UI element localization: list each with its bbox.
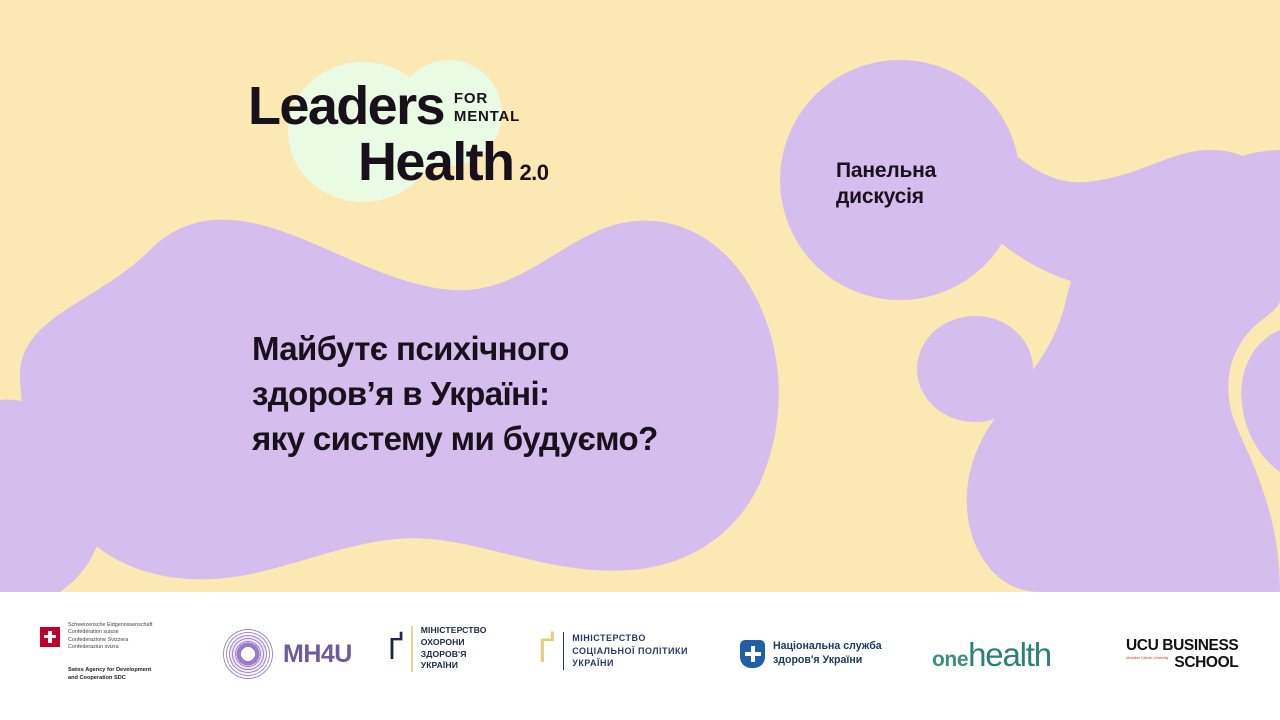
- background-blob-art: [0, 0, 1280, 592]
- ukraine-trident-icon: Ґ: [388, 632, 403, 666]
- nszu-line-1: Національна служба: [773, 640, 882, 654]
- logo-ministry-of-health: Ґ МІНІСТЕРСТВО ОХОРОНИ ЗДОРОВ'Я УКРАЇНИ: [388, 625, 487, 672]
- headline-line-2: здоров’я в Україні:: [252, 371, 772, 416]
- mh4u-wordmark: MH4U: [283, 640, 352, 669]
- moz-line-3: ЗДОРОВ'Я: [421, 649, 487, 661]
- swiss-cross-flag-icon: [40, 627, 60, 647]
- swiss-name-rm: Confederaziun svizra: [68, 644, 153, 651]
- moz-line-4: УКРАЇНИ: [421, 660, 487, 672]
- panel-discussion-label: Панельна дискусія: [836, 158, 1046, 210]
- logo-divider: [563, 632, 565, 670]
- onehealth-word-one: one: [932, 648, 968, 672]
- logo-word-health: Health: [358, 134, 513, 190]
- headline-line-3: яку систему ми будуємо?: [252, 416, 772, 461]
- logo-subtitle: FOR MENTAL: [454, 90, 520, 126]
- nszu-line-2: здоров'я України: [773, 654, 882, 668]
- logo-national-health-service: Національна служба здоров'я України: [740, 640, 882, 668]
- moz-line-2: ОХОРОНИ: [421, 637, 487, 649]
- swiss-tagline-line-1: Swiss Agency for Development: [68, 667, 151, 675]
- panel-label-line-2: дискусія: [836, 185, 924, 208]
- blue-shield-cross-icon: [740, 640, 765, 668]
- logo-onehealth: one health: [932, 636, 1051, 674]
- logo-subtitle-for: FOR: [454, 90, 488, 107]
- purple-blob-small-ellipse: [917, 316, 1033, 422]
- swiss-name-fr: Confédération suisse: [68, 629, 153, 636]
- logo-mh4u: MH4U: [222, 628, 352, 680]
- ucu-tagline: Ukrainian Catholic University: [1126, 656, 1186, 660]
- logo-version-badge: 2.0: [519, 160, 548, 186]
- slide-headline: Майбутє психічного здоров’я в Україні: я…: [252, 326, 772, 461]
- leaders-for-mental-health-logo: Leaders FOR MENTAL Health 2.0: [248, 62, 588, 202]
- swiss-agency-tagline: Swiss Agency for Development and Coopera…: [68, 667, 151, 682]
- onehealth-word-health: health: [968, 636, 1051, 674]
- msp-line-2: СОЦІАЛЬНОЇ ПОЛІТИКИ: [572, 645, 688, 657]
- mandala-circle-icon: [222, 628, 274, 680]
- logo-subtitle-mental: MENTAL: [454, 108, 520, 125]
- logo-divider: [411, 626, 413, 672]
- headline-line-1: Майбутє психічного: [252, 326, 772, 371]
- swiss-tagline-line-2: and Cooperation SDC: [68, 675, 151, 683]
- moz-line-1: МІНІСТЕРСТВО: [421, 625, 487, 637]
- logo-swiss-sdc: Schweizerische Eidgenossenschaft Confédé…: [40, 622, 153, 651]
- swiss-name-de: Schweizerische Eidgenossenschaft: [68, 622, 153, 629]
- ministry-of-social-policy-name: МІНІСТЕРСТВО СОЦІАЛЬНОЇ ПОЛІТИКИ УКРАЇНИ: [572, 632, 688, 669]
- panel-label-line-1: Панельна: [836, 159, 936, 182]
- logo-line-health: Health 2.0: [358, 134, 549, 190]
- event-slide: Leaders FOR MENTAL Health 2.0 Панельна д…: [0, 0, 1280, 720]
- national-health-service-name: Національна служба здоров'я України: [773, 640, 882, 667]
- logo-ucu-business-school: UCU BUSINESS SCHOOL Ukrainian Catholic U…: [1126, 637, 1238, 671]
- logo-word-leaders: Leaders: [248, 78, 444, 134]
- logo-ministry-of-social-policy: Ґ МІНІСТЕРСТВО СОЦІАЛЬНОЇ ПОЛІТИКИ УКРАЇ…: [538, 632, 688, 670]
- swiss-confederation-names: Schweizerische Eidgenossenschaft Confédé…: [68, 622, 153, 651]
- msp-line-3: УКРАЇНИ: [572, 657, 688, 669]
- ukraine-trident-gold-icon: Ґ: [538, 633, 555, 669]
- ministry-of-health-name: МІНІСТЕРСТВО ОХОРОНИ ЗДОРОВ'Я УКРАЇНИ: [421, 625, 487, 672]
- swiss-name-it: Confederazione Svizzera: [68, 637, 153, 644]
- msp-line-1: МІНІСТЕРСТВО: [572, 632, 688, 644]
- logo-line-leaders: Leaders FOR MENTAL: [248, 78, 520, 134]
- ucu-line-1: UCU BUSINESS: [1126, 637, 1238, 654]
